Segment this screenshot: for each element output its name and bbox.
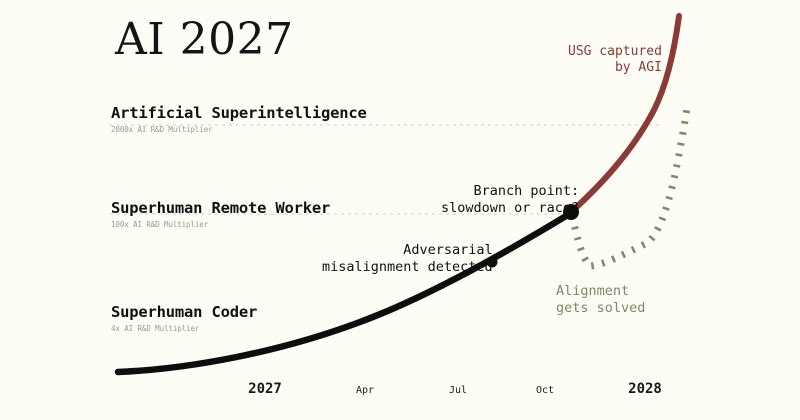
chart-canvas: AI 2027 Artificial Superintelligence 200… <box>0 0 800 420</box>
annotation-usg-captured-line2: by AGI <box>568 60 662 76</box>
threshold-name-srw: Superhuman Remote Worker <box>111 199 330 217</box>
annotation-branch-point: Branch point: slowdown or race? <box>441 183 579 217</box>
threshold-label-shc: Superhuman Coder 4x AI R&D Multiplier <box>111 303 257 333</box>
annotation-usg-captured-line1: USG captured <box>568 44 662 60</box>
page-title: AI 2027 <box>115 14 294 65</box>
x-axis-tick-jul: Jul <box>449 385 467 396</box>
threshold-label-srw: Superhuman Remote Worker 100x AI R&D Mul… <box>111 199 330 229</box>
threshold-name-shc: Superhuman Coder <box>111 303 257 321</box>
x-axis-tick-oct: Oct <box>536 385 554 396</box>
x-axis-tick-2028: 2028 <box>628 381 662 397</box>
annotation-alignment-solved: Alignment gets solved <box>556 283 645 317</box>
x-axis-tick-apr: Apr <box>356 385 374 396</box>
annotation-alignment-solved-line2: gets solved <box>556 300 645 317</box>
annotation-usg-captured: USG captured by AGI <box>568 44 662 76</box>
capability-curve-shared <box>118 213 571 372</box>
x-axis-tick-2027: 2027 <box>248 381 282 397</box>
annotation-misalignment-line2: misalignment detected <box>322 259 493 276</box>
annotation-misalignment: Adversarial misalignment detected <box>322 242 493 276</box>
threshold-multiplier-srw: 100x AI R&D Multiplier <box>111 220 330 229</box>
annotation-misalignment-line1: Adversarial <box>322 242 493 259</box>
annotation-branch-point-line2: slowdown or race? <box>441 200 579 217</box>
threshold-label-asi: Artificial Superintelligence 2000x AI R&… <box>111 104 367 134</box>
threshold-multiplier-asi: 2000x AI R&D Multiplier <box>111 125 367 134</box>
annotation-alignment-solved-line1: Alignment <box>556 283 645 300</box>
slowdown-branch-curve <box>572 103 688 266</box>
annotation-branch-point-line1: Branch point: <box>441 183 579 200</box>
threshold-name-asi: Artificial Superintelligence <box>111 104 367 122</box>
threshold-multiplier-shc: 4x AI R&D Multiplier <box>111 324 257 333</box>
